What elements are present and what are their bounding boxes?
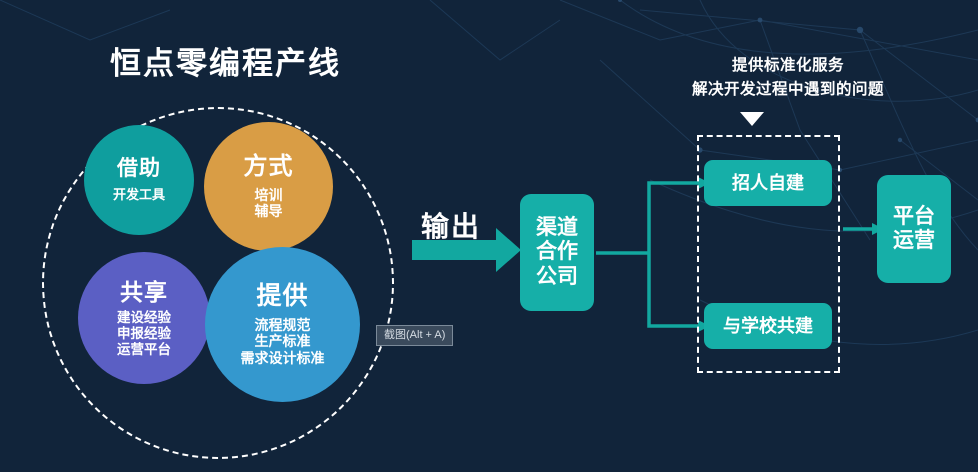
right-note: 提供标准化服务 解决开发过程中遇到的问题 [627, 54, 949, 102]
box-channel-partner-label: 渠道合作公司 [536, 216, 578, 289]
right-note-line2: 解决开发过程中遇到的问题 [627, 78, 949, 102]
box-school-cobuild-label: 与学校共建 [723, 316, 813, 337]
box-school-cobuild[interactable]: 与学校共建 [704, 303, 832, 349]
box-platform-operation[interactable]: 平台运营 [877, 175, 951, 283]
output-arrow-icon [412, 228, 521, 272]
down-triangle-icon [740, 112, 764, 126]
slide-canvas: 恒点零编程产线 借助 开发工具 方式 培训辅导 共享 建设经验申报经验运营平台 … [0, 0, 978, 472]
box-recruit-self-build[interactable]: 招人自建 [704, 160, 832, 206]
box-recruit-self-build-label: 招人自建 [732, 173, 804, 194]
box-channel-partner[interactable]: 渠道合作公司 [520, 194, 594, 311]
screenshot-tooltip: 截图(Alt + A) [376, 325, 453, 346]
box-platform-operation-label: 平台运营 [893, 205, 935, 254]
right-note-line1: 提供标准化服务 [732, 57, 844, 74]
